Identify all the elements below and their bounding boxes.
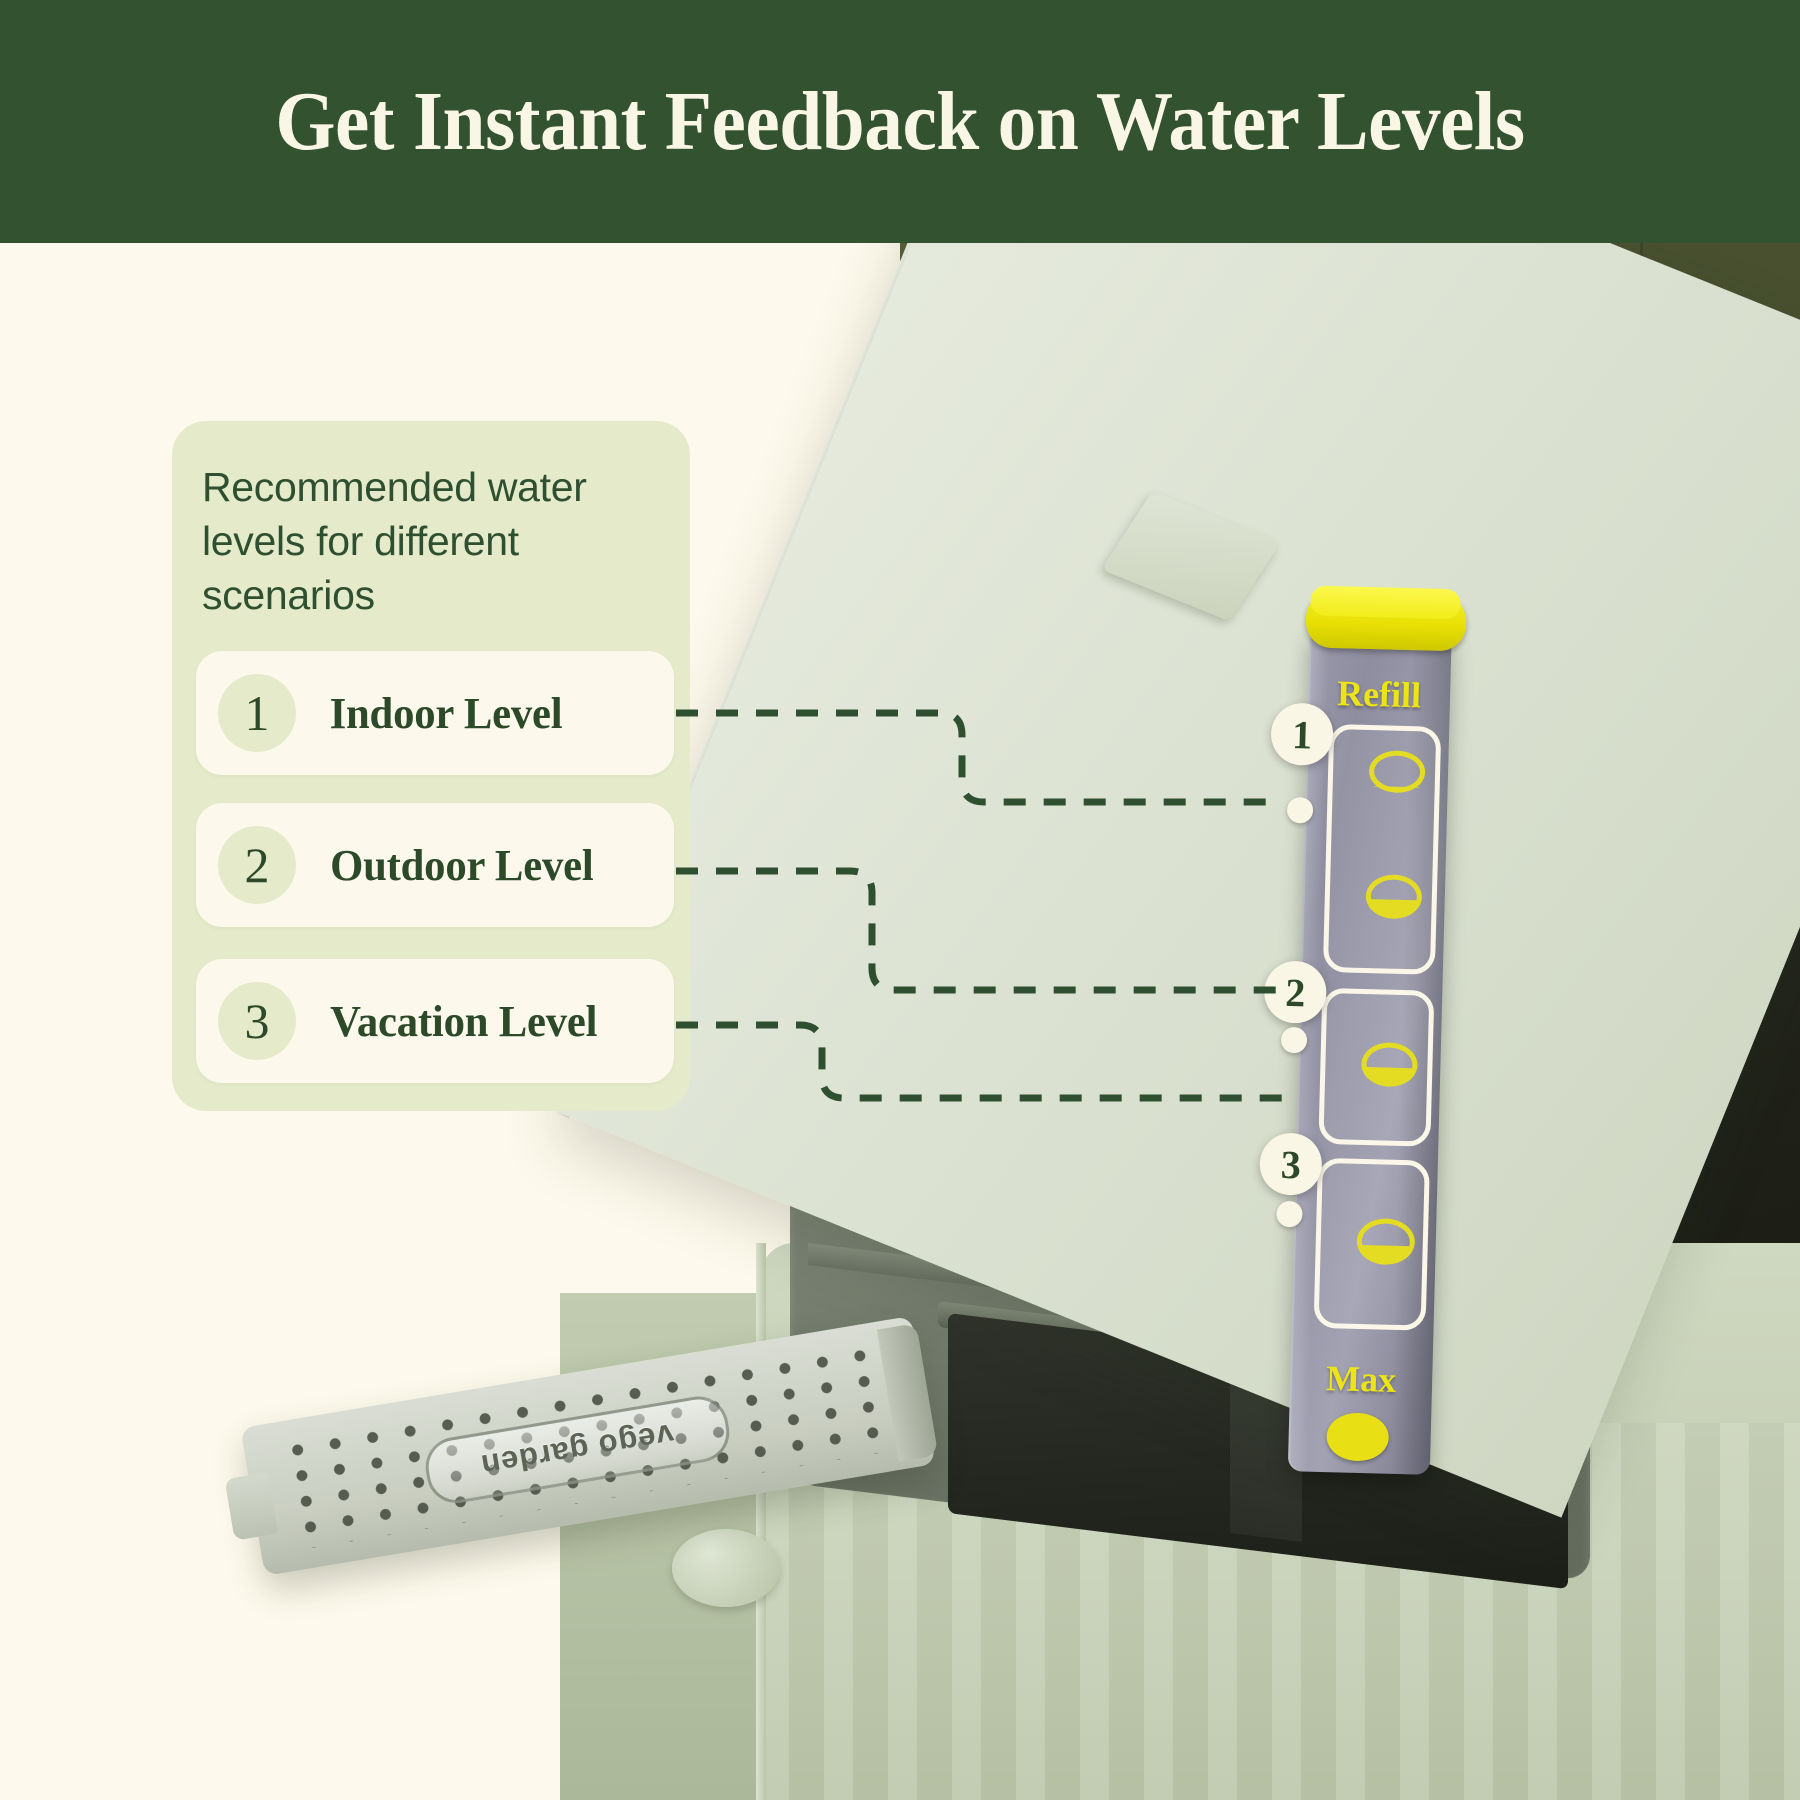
gauge-bubble-half-2 xyxy=(1361,1042,1418,1087)
gauge-cap-top xyxy=(1310,585,1461,619)
page-title: Get Instant Feedback on Water Levels xyxy=(275,73,1524,170)
infographic-stage: Get Instant Feedback on Water Levels ve xyxy=(0,0,1800,1800)
gauge-window-1 xyxy=(1323,724,1441,975)
list-item-number: 3 xyxy=(218,982,296,1060)
gauge-bubble-half-3 xyxy=(1356,1218,1415,1266)
gauge-max-label: Max xyxy=(1290,1356,1433,1402)
list-item-label: Vacation Level xyxy=(330,996,597,1047)
gauge-refill-label: Refill xyxy=(1308,671,1451,717)
gauge-window-2 xyxy=(1318,988,1434,1147)
list-item-indoor[interactable]: 1 Indoor Level xyxy=(196,651,674,775)
panel-heading: Recommended water levels for different s… xyxy=(202,460,642,622)
list-item-label: Outdoor Level xyxy=(330,840,593,891)
header-banner: Get Instant Feedback on Water Levels xyxy=(0,0,1800,243)
planter-body-edge xyxy=(756,1243,766,1800)
gauge-window-3 xyxy=(1314,1158,1430,1331)
list-item-number: 1 xyxy=(218,674,296,752)
gauge-bubble-half-1 xyxy=(1365,874,1422,919)
list-item-label: Indoor Level xyxy=(330,688,563,739)
list-item-vacation[interactable]: 3 Vacation Level xyxy=(196,959,674,1083)
list-item-number: 2 xyxy=(218,826,296,904)
gauge-bubble-empty xyxy=(1369,750,1426,793)
water-level-gauge[interactable]: Refill Max xyxy=(1273,591,1457,1495)
grate-notch xyxy=(225,1472,279,1540)
list-item-outdoor[interactable]: 2 Outdoor Level xyxy=(196,803,674,927)
planter-knob xyxy=(672,1529,780,1607)
